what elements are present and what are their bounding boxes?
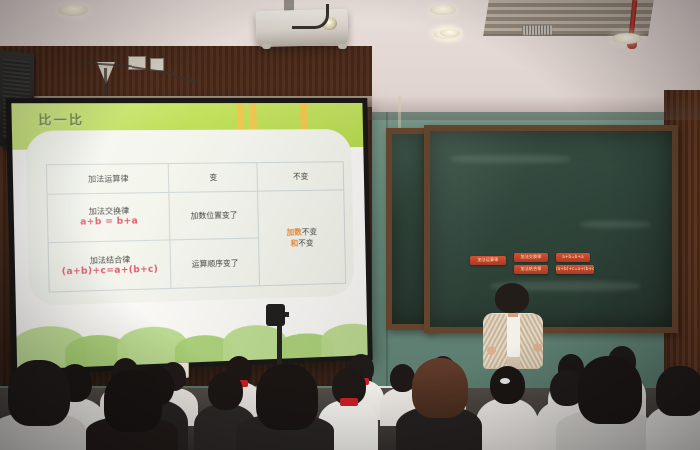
teacher-hand xyxy=(533,343,542,352)
cable xyxy=(104,68,107,94)
cell-associative-law: 加法结合律 (a+b)+c=a+(b+c) xyxy=(48,240,171,292)
blackboard-card: (a+b)+c=a+(b+c) xyxy=(556,265,594,274)
unchanged-line-2: 和不变 xyxy=(260,236,343,249)
law-formula: a+b = b+a xyxy=(49,216,168,230)
downlight-icon xyxy=(430,5,456,15)
column-header-changed: 变 xyxy=(168,163,257,192)
law-formula: (a+b)+c=a+(b+c) xyxy=(50,264,169,279)
screen-surface: 比一比 加法运算律 变 不变 加法交换律 a+b = b+a 加数位置变了 xyxy=(11,103,367,370)
downlight-icon xyxy=(612,33,642,44)
column-header-unchanged: 不变 xyxy=(257,162,344,191)
downlight-icon xyxy=(58,4,88,16)
blackboard-card: 加法运算律 xyxy=(470,256,506,265)
blackboard-card: 加法结合律 xyxy=(514,265,548,274)
table-row: 加法交换律 a+b = b+a 加数位置变了 加数不变 和不变 xyxy=(47,190,345,243)
slide-bush-decoration xyxy=(16,293,368,370)
cell-associative-changed: 运算顺序变了 xyxy=(170,238,260,288)
chalk-smudge xyxy=(450,155,570,163)
projector-foot xyxy=(338,44,347,49)
unchanged-rest-2: 不变 xyxy=(298,238,313,247)
unchanged-highlight-1: 加数 xyxy=(286,227,301,236)
bush-shape xyxy=(321,323,368,357)
teacher-jacket-left xyxy=(483,314,507,368)
projector-vent xyxy=(522,25,552,35)
slide-tab-icon xyxy=(237,103,245,131)
chalk-smudge xyxy=(580,221,650,228)
blackboard-card: 加法交换律 xyxy=(514,253,548,262)
slide-table: 加法运算律 变 不变 加法交换律 a+b = b+a 加数位置变了 加数不变 和… xyxy=(46,161,346,292)
slide-tab-icon xyxy=(249,103,257,131)
blackboard-sheen xyxy=(392,134,428,324)
blackboard-card: a+b=b+a xyxy=(556,253,590,262)
classroom-photo: 加法运算律 加法交换律 a+b=b+a 加法结合律 (a+b)+c=a+(b+c… xyxy=(0,0,700,450)
cell-unchanged-merged: 加数不变 和不变 xyxy=(258,190,346,286)
unchanged-rest-1: 不变 xyxy=(302,227,317,236)
recording-camera xyxy=(266,304,285,326)
slide-title: 比一比 xyxy=(38,111,84,129)
projector-cable xyxy=(292,4,329,29)
column-header-law: 加法运算律 xyxy=(46,164,169,194)
teacher-hand xyxy=(487,346,496,355)
slide-tab-icon xyxy=(300,103,308,130)
slide: 比一比 加法运算律 变 不变 加法交换律 a+b = b+a 加数位置变了 xyxy=(11,103,367,370)
blackboard: 加法运算律 加法交换律 a+b=b+a 加法结合律 (a+b)+c=a+(b+c… xyxy=(424,125,678,333)
projector-foot xyxy=(262,44,271,49)
downlight-icon xyxy=(440,29,460,37)
projection-screen: 比一比 加法运算律 变 不变 加法交换律 a+b = b+a 加数位置变了 xyxy=(6,98,373,375)
cell-commutative-law: 加法交换律 a+b = b+a xyxy=(47,192,170,243)
teacher-hair xyxy=(495,283,529,313)
teacher-jacket-right xyxy=(520,314,543,368)
cell-commutative-changed: 加数位置变了 xyxy=(169,191,259,240)
table-header-row: 加法运算律 变 不变 xyxy=(46,162,343,194)
